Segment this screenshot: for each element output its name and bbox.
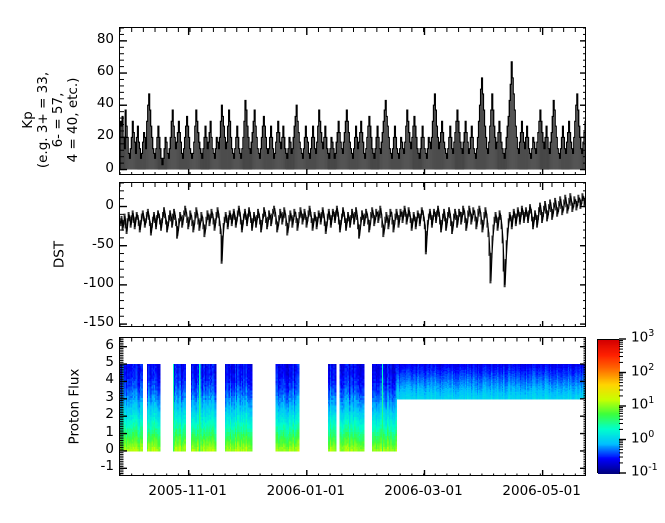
ytick-label: 0: [0, 441, 114, 457]
ytick-label: 0: [0, 197, 114, 213]
kp-panel: [119, 27, 586, 175]
ytick-label: 0: [0, 160, 114, 176]
ytick-label: 60: [0, 63, 114, 79]
ytick-label: 1: [0, 424, 114, 440]
colorbar-tick-label: 100: [631, 429, 654, 447]
xtick-label: 2005-11-01: [138, 483, 238, 499]
colorbar-gradient: [598, 340, 620, 474]
ytick-label: 20: [0, 127, 114, 143]
colorbar-tick-label: 101: [631, 395, 654, 413]
ytick-label: 40: [0, 95, 114, 111]
ytick-label: -100: [0, 275, 114, 291]
colorbar-tick-label: 10-1: [631, 462, 658, 480]
colorbar: [597, 339, 619, 473]
ytick-label: -150: [0, 314, 114, 330]
ytick-label: 2: [0, 406, 114, 422]
xtick-label: 2006-05-01: [492, 483, 592, 499]
dst-plot-area: [120, 183, 586, 327]
dst-panel: [119, 182, 586, 327]
ytick-label: 6: [0, 337, 114, 353]
colorbar-tickmarks: [619, 337, 633, 477]
proton-flux-plot-area: [120, 338, 586, 476]
ytick-label: 5: [0, 354, 114, 370]
kp-plot-area: [120, 28, 586, 175]
xtick-label: 2006-01-01: [256, 483, 356, 499]
ytick-label: 80: [0, 31, 114, 47]
xtick-label: 2006-03-01: [373, 483, 473, 499]
proton-flux-panel: [119, 337, 586, 476]
ytick-label: -1: [0, 458, 114, 474]
colorbar-tick-label: 102: [631, 362, 654, 380]
ytick-label: 4: [0, 371, 114, 387]
ytick-label: 3: [0, 389, 114, 405]
colorbar-tick-label: 103: [631, 328, 654, 346]
ytick-label: -50: [0, 236, 114, 252]
